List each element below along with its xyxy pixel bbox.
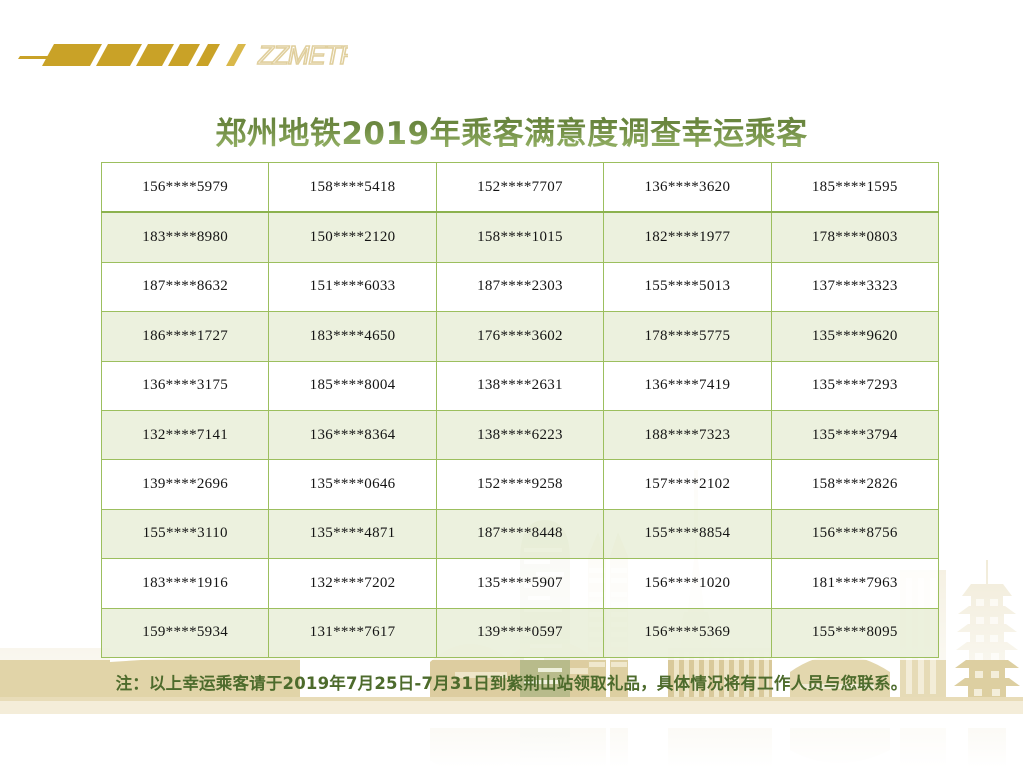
phone-cell: 187****8632 [102,262,269,311]
table-row: 156****5979 158****5418 152****7707 136*… [102,163,939,213]
ground-band [0,700,1023,714]
phone-cell: 132****7202 [269,559,436,608]
phone-cell: 185****8004 [269,361,436,410]
table-row: 183****8980 150****2120 158****1015 182*… [102,212,939,262]
phone-cell: 131****7617 [269,608,436,657]
table-row: 139****2696 135****0646 152****9258 157*… [102,460,939,509]
phone-cell: 178****5775 [604,312,771,361]
phone-cell: 181****7963 [771,559,938,608]
phone-cell: 156****5979 [102,163,269,213]
table-row: 155****3110 135****4871 187****8448 155*… [102,509,939,558]
zzmetro-logo: ZZMETRO [18,28,348,80]
phone-cell: 158****1015 [436,212,603,262]
phone-cell: 132****7141 [102,410,269,459]
phone-cell: 136****3175 [102,361,269,410]
phone-cell: 178****0803 [771,212,938,262]
table-row: 187****8632 151****6033 187****2303 155*… [102,262,939,311]
phone-cell: 156****8756 [771,509,938,558]
table-row: 159****5934 131****7617 139****0597 156*… [102,608,939,657]
phone-cell: 186****1727 [102,312,269,361]
phone-cell: 176****3602 [436,312,603,361]
skyline-reflection [430,728,1006,768]
phone-cell: 159****5934 [102,608,269,657]
phone-cell: 158****2826 [771,460,938,509]
phone-cell: 139****2696 [102,460,269,509]
phone-cell: 136****3620 [604,163,771,213]
phone-cell: 155****8095 [771,608,938,657]
phone-cell: 182****1977 [604,212,771,262]
phone-cell: 135****7293 [771,361,938,410]
phone-cell: 155****5013 [604,262,771,311]
table-row: 183****1916 132****7202 135****5907 156*… [102,559,939,608]
phone-cell: 135****9620 [771,312,938,361]
logo-wordmark: ZZMETRO [257,40,348,70]
phone-cell: 135****0646 [269,460,436,509]
phone-cell: 150****2120 [269,212,436,262]
phone-cell: 183****1916 [102,559,269,608]
phone-cell: 187****8448 [436,509,603,558]
phone-cell: 137****3323 [771,262,938,311]
phone-cell: 135****4871 [269,509,436,558]
page-title: 郑州地铁2019年乘客满意度调查幸运乘客 [0,108,1023,153]
table-row: 136****3175 185****8004 138****2631 136*… [102,361,939,410]
phone-cell: 187****2303 [436,262,603,311]
table-body: 156****5979 158****5418 152****7707 136*… [102,163,939,658]
logo-slash-icon [226,44,246,66]
lucky-passengers-table: 156****5979 158****5418 152****7707 136*… [101,162,939,658]
phone-cell: 136****8364 [269,410,436,459]
phone-cell: 155****3110 [102,509,269,558]
phone-cell: 158****5418 [269,163,436,213]
footer-note: 注：以上幸运乘客请于2019年7月25日-7月31日到紫荆山站领取礼品，具体情况… [0,670,1023,694]
ground-band-edge [0,697,1023,701]
phone-cell: 157****2102 [604,460,771,509]
phone-cell: 139****0597 [436,608,603,657]
phone-cell: 138****2631 [436,361,603,410]
phone-cell: 138****6223 [436,410,603,459]
phone-cell: 156****1020 [604,559,771,608]
phone-cell: 151****6033 [269,262,436,311]
phone-cell: 136****7419 [604,361,771,410]
phone-cell: 185****1595 [771,163,938,213]
phone-cell: 156****5369 [604,608,771,657]
phone-cell: 135****5907 [436,559,603,608]
phone-cell: 152****7707 [436,163,603,213]
phone-cell: 152****9258 [436,460,603,509]
table-row: 132****7141 136****8364 138****6223 188*… [102,410,939,459]
phone-cell: 155****8854 [604,509,771,558]
phone-cell: 183****8980 [102,212,269,262]
phone-cell: 188****7323 [604,410,771,459]
phone-cell: 183****4650 [269,312,436,361]
phone-cell: 135****3794 [771,410,938,459]
table-row: 186****1727 183****4650 176****3602 178*… [102,312,939,361]
logo-bars-icon [42,44,220,66]
